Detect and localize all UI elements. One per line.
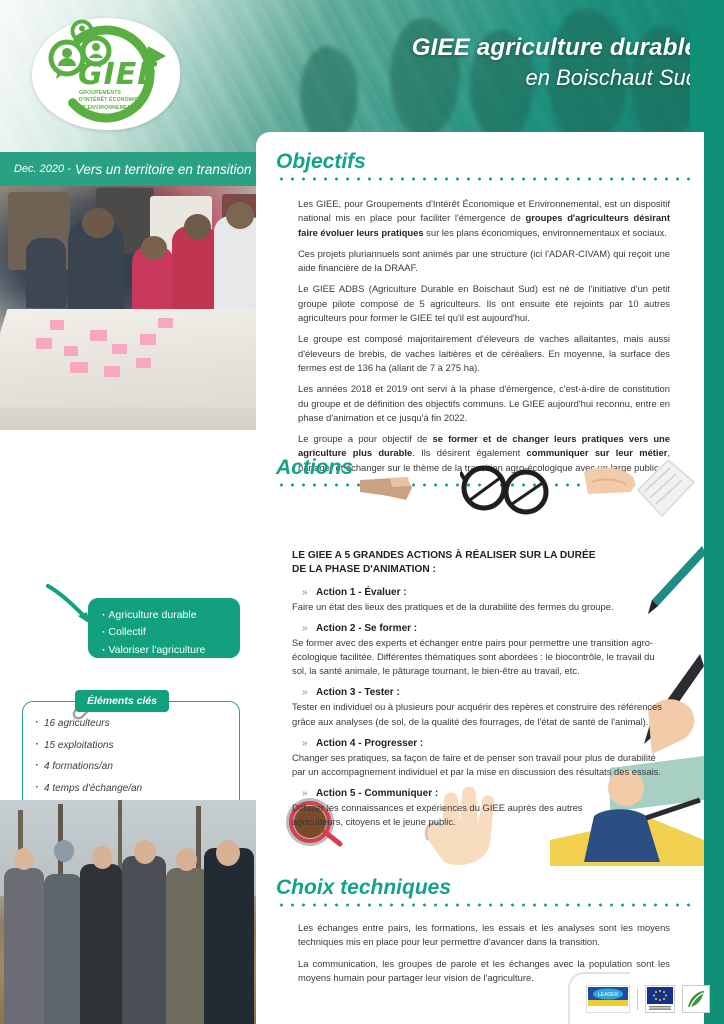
key-value-item: Collectif: [102, 624, 240, 641]
footer-logos: LEADER: [586, 982, 710, 1016]
workshop-photo: [0, 186, 262, 430]
chevron-icon: »: [302, 623, 308, 634]
action-title: »Action 5 - Communiquer :: [292, 788, 670, 799]
action-title: »Action 2 - Se former :: [292, 623, 670, 634]
date-banner: Dec. 2020 - Vers un territoire en transi…: [0, 152, 262, 186]
action-title: »Action 1 - Évaluer :: [292, 587, 670, 598]
key-values-box: Agriculture durable Collectif Valoriser …: [88, 598, 240, 658]
paragraph: Ces projets pluriannuels sont animés par…: [298, 247, 670, 276]
svg-text:LEADER: LEADER: [598, 992, 618, 998]
group-photo: [0, 800, 262, 1024]
paragraph: Les années 2018 et 2019 ont servi à la p…: [298, 382, 670, 425]
logo-subtitle: GROUPEMENTS D'INTÉRÊT ÉCONOMIQUE ET ENVI…: [79, 90, 173, 112]
action-body: Se former avec des experts et échanger e…: [292, 636, 670, 678]
title-line-2: en Boischaut Sud: [278, 64, 698, 93]
logo-wordmark: GIEE: [78, 60, 178, 90]
action-body: Tester en individuel ou à plusieurs pour…: [292, 700, 670, 728]
european-union-flag-logo: [645, 985, 675, 1013]
key-value-item: Valoriser l'agriculture: [102, 642, 240, 659]
chevron-icon: »: [302, 587, 308, 598]
paragraph: Les GIEE, pour Groupements d'Intérêt Éco…: [298, 197, 670, 240]
list-item: 4 formations/an: [35, 759, 229, 775]
leader-europe-logo: LEADER: [586, 985, 630, 1013]
choix-heading: Choix techniques: [264, 876, 694, 903]
chevron-icon: »: [302, 788, 308, 799]
content-panel: Objectifs Les GIEE, pour Groupements d'I…: [256, 132, 704, 1024]
section-actions: Actions: [264, 456, 694, 838]
paragraph: Le groupe est composé majoritairement d'…: [298, 332, 670, 375]
paragraph: Les échanges entre pairs, les formations…: [298, 921, 670, 950]
list-item: 16 agriculteurs: [35, 716, 229, 732]
page-title: GIEE agriculture durable en Boischaut Su…: [278, 34, 698, 93]
giee-logo: GIEE GROUPEMENTS D'INTÉRÊT ÉCONOMIQUE ET…: [32, 18, 180, 130]
poster-page: GIEE GROUPEMENTS D'INTÉRÊT ÉCONOMIQUE ET…: [0, 0, 724, 1024]
list-item: 15 exploitations: [35, 738, 229, 754]
action-body: Diffuser les connaissances et expérience…: [292, 801, 592, 829]
title-line-1: GIEE agriculture durable: [278, 34, 698, 62]
objectifs-heading: Objectifs: [264, 150, 694, 177]
banner-tagline: Vers un territoire en transition !: [75, 162, 259, 177]
key-value-item: Agriculture durable: [102, 607, 240, 624]
chevron-icon: »: [302, 687, 308, 698]
section-objectifs: Objectifs Les GIEE, pour Groupements d'I…: [264, 150, 694, 482]
logo-divider: [637, 988, 638, 1010]
action-body: Faire un état des lieux des pratiques et…: [292, 600, 670, 614]
action-title: »Action 3 - Tester :: [292, 687, 670, 698]
region-centre-logo: [682, 985, 710, 1013]
elements-cles-tag: Éléments clés: [75, 690, 169, 712]
actions-lead: LE GIEE A 5 GRANDES ACTIONS À RÉALISER S…: [292, 549, 670, 578]
actions-heading: Actions: [264, 456, 694, 483]
actions-lead-line-1: LE GIEE A 5 GRANDES ACTIONS À RÉALISER S…: [292, 550, 596, 561]
banner-date: Dec. 2020 -: [14, 163, 71, 175]
list-item: 4 temps d'échange/an: [35, 781, 229, 797]
action-body: Changer ses pratiques, sa façon de faire…: [292, 751, 670, 779]
actions-lead-line-2: DE LA PHASE D'ANIMATION :: [292, 564, 436, 575]
page-header: GIEE GROUPEMENTS D'INTÉRÊT ÉCONOMIQUE ET…: [0, 0, 724, 152]
right-band-top: [690, 0, 724, 132]
chevron-icon: »: [302, 738, 308, 749]
paragraph: Le GIEE ADBS (Agriculture Durable en Boi…: [298, 282, 670, 325]
paper-table: [0, 309, 262, 407]
left-column: Agriculture durable Collectif Valoriser …: [0, 186, 262, 1024]
action-title: »Action 4 - Progresser :: [292, 738, 670, 749]
